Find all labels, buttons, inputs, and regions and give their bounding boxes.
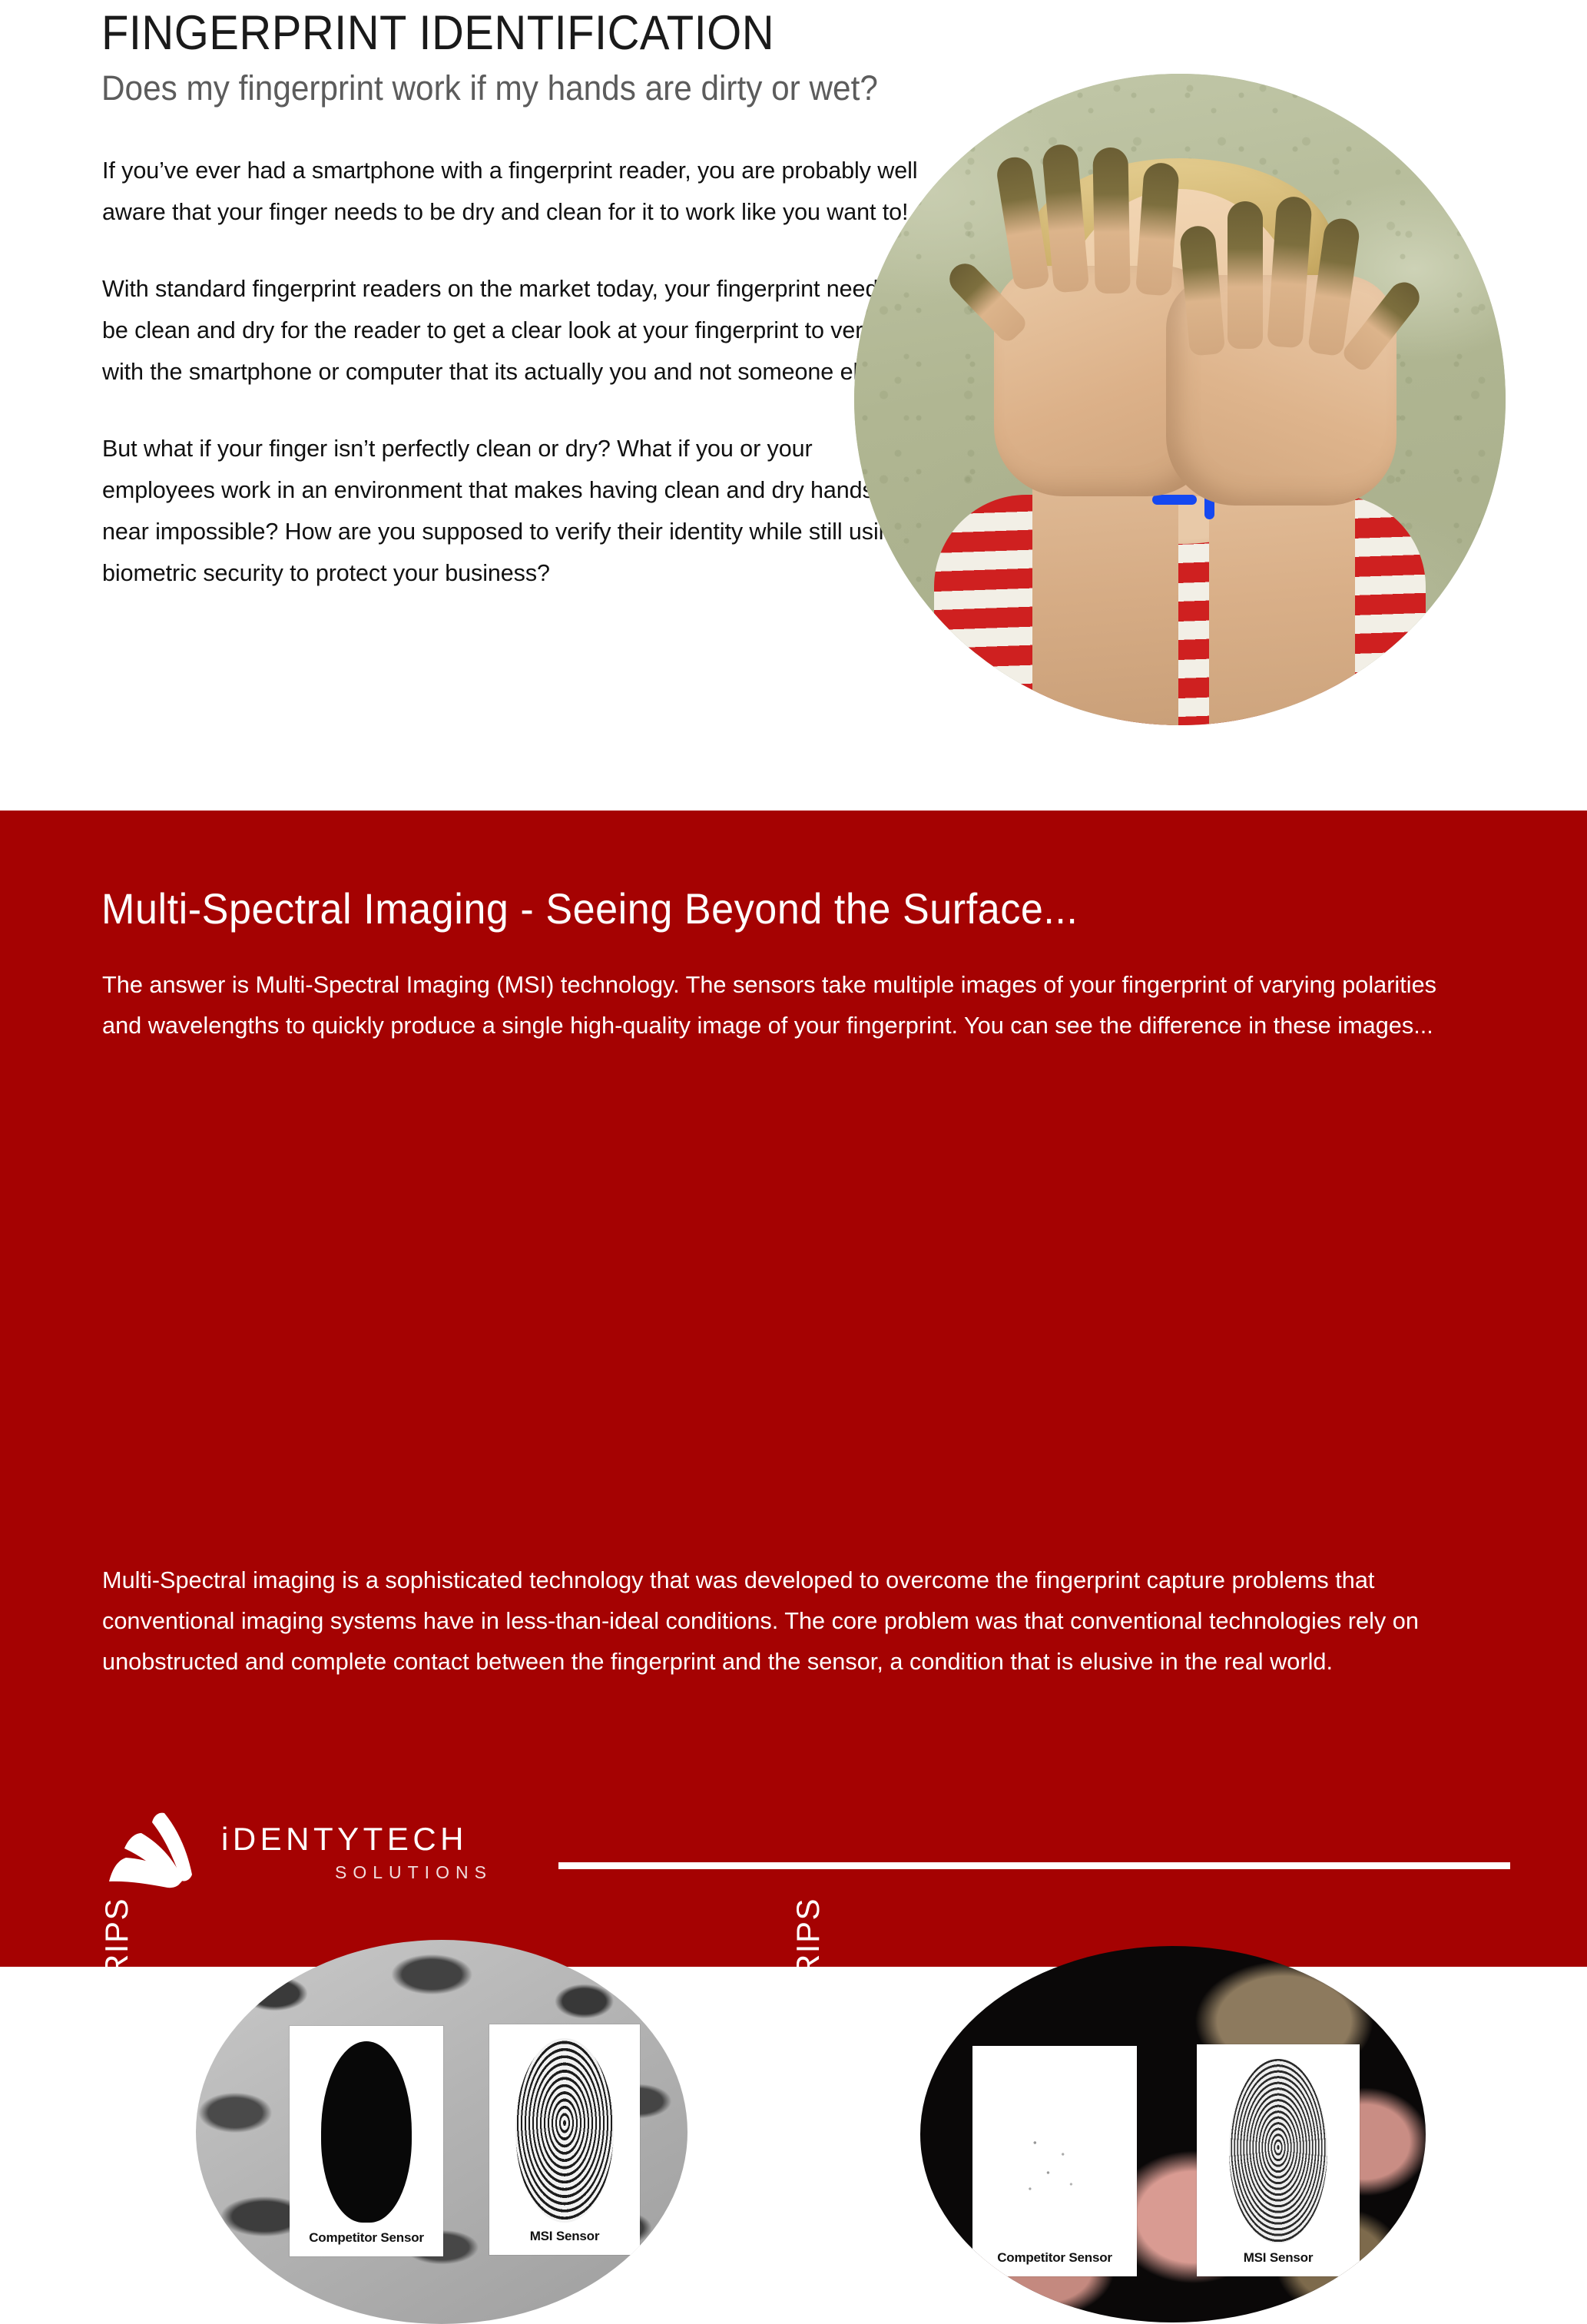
footer-divider-rule [558, 1862, 1510, 1869]
wet-competitor-black-blob [321, 2041, 412, 2223]
label-dirty-fingertrips: DIRTY FINGERTRIPS [790, 1898, 827, 2238]
left-finger-3 [1092, 148, 1130, 294]
logo-tagline: SOLUTIONS [335, 1862, 492, 1883]
wet-competitor-label: Competitor Sensor [290, 2230, 443, 2246]
right-finger-3 [1228, 201, 1263, 349]
wet-msi-card: MSI Sensor [489, 2024, 640, 2255]
logo-wordmark: iDENTYTECH [221, 1821, 468, 1858]
dirty-msi-fingerprint [1229, 2059, 1327, 2243]
label-wet-fingertrips: WET FINGERTRIPS [98, 1898, 135, 2211]
wet-msi-fingerprint [515, 2038, 614, 2223]
comparison-image-dirty: Competitor Sensor MSI Sensor [920, 1946, 1426, 2322]
intro-paragraph-2: With standard fingerprint readers on the… [102, 268, 919, 393]
intro-paragraph-1: If you’ve ever had a smartphone with a f… [102, 150, 919, 233]
comparison-image-wet: Competitor Sensor MSI Sensor [196, 1940, 687, 2324]
intro-body: If you’ve ever had a smartphone with a f… [102, 150, 932, 594]
identytech-fan-logo-icon [108, 1810, 201, 1891]
dirty-msi-label: MSI Sensor [1197, 2250, 1360, 2266]
intro-paragraph-3: But what if your finger isn’t perfectly … [102, 428, 919, 594]
dirty-competitor-card: Competitor Sensor [972, 2046, 1137, 2276]
hero-photo-child-muddy-hands [854, 74, 1506, 725]
dirty-competitor-blank-capture [972, 2046, 1137, 2276]
msi-outro-paragraph: Multi-Spectral imaging is a sophisticate… [102, 1560, 1494, 1682]
wet-msi-label: MSI Sensor [489, 2229, 640, 2244]
dirty-msi-card: MSI Sensor [1197, 2044, 1360, 2276]
dirty-competitor-label: Competitor Sensor [972, 2250, 1137, 2266]
intro-section: FINGERPRINT IDENTIFICATION Does my finge… [0, 0, 1587, 811]
face-paint-stroke-5 [1152, 495, 1197, 505]
wet-competitor-card: Competitor Sensor [290, 2026, 443, 2256]
msi-intro-paragraph: The answer is Multi-Spectral Imaging (MS… [102, 964, 1479, 1046]
msi-heading: Multi-Spectral Imaging - Seeing Beyond t… [101, 887, 1078, 930]
page-subtitle: Does my fingerprint work if my hands are… [101, 71, 878, 105]
page-title: FINGERPRINT IDENTIFICATION [101, 9, 774, 58]
msi-section: Multi-Spectral Imaging - Seeing Beyond t… [0, 811, 1587, 1967]
footer-logo: iDENTYTECH SOLUTIONS [108, 1807, 538, 1907]
